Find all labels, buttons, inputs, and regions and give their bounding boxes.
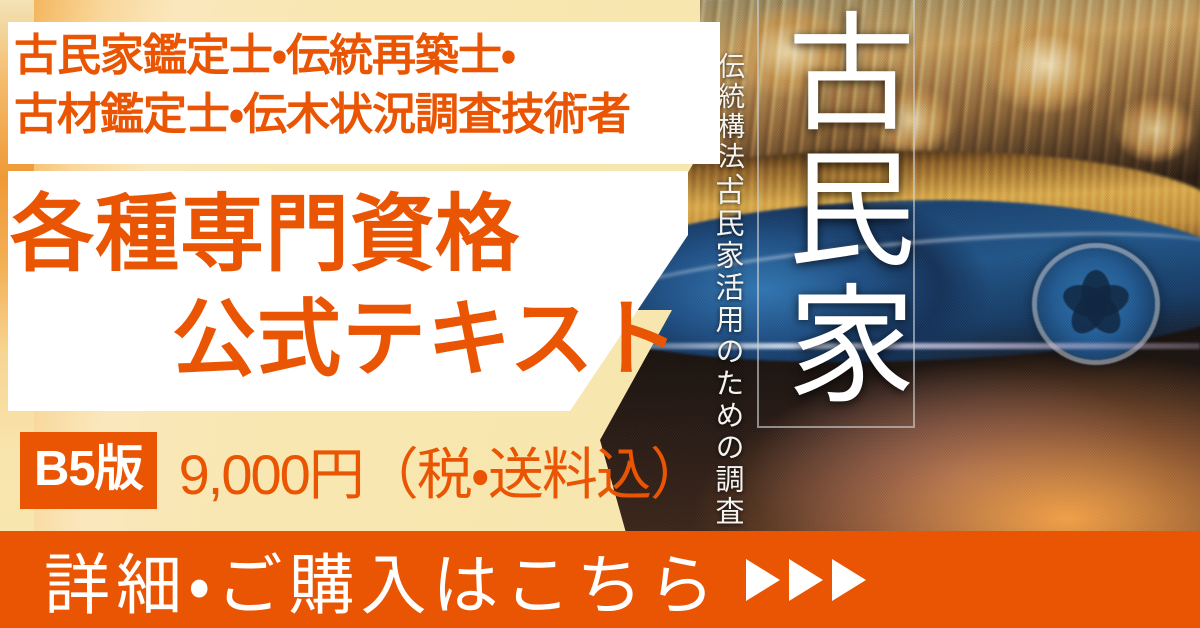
cover-subtitle-main: 古民家活用のための調査と再生の — [706, 176, 748, 548]
cta-arrows — [746, 559, 866, 601]
price-amount: 9,000円（税・送料込） — [179, 430, 704, 511]
headline-text: 各種専門資格 公式テキスト — [10, 182, 690, 392]
price-row: B5版 9,000円（税・送料込） — [20, 428, 704, 512]
cta-bar[interactable]: 詳細・ご購入はこちら — [0, 531, 1200, 628]
promo-banner: 古民家 伝統構法、 古民家活用のための調査と再生の 古民家鑑定士・伝統再築士・ … — [0, 0, 1200, 628]
cta-label: 詳細・ご購入はこちら — [44, 532, 720, 628]
chevron-right-icon-2 — [789, 559, 823, 601]
chevron-right-icon-1 — [746, 559, 780, 601]
certification-line-1: 古民家鑑定士・伝統再築士・ — [14, 27, 714, 86]
certifications-text: 古民家鑑定士・伝統再築士・ 古材鑑定士・伝木状況調査技術者 — [14, 27, 714, 145]
chevron-right-icon-3 — [832, 559, 866, 601]
headline-line-2: 公式テキスト — [10, 287, 690, 392]
certification-line-2: 古材鑑定士・伝木状況調査技術者 — [14, 86, 714, 145]
cover-title-text: 古民家 — [772, 6, 904, 426]
size-badge: B5版 — [20, 432, 157, 509]
headline-line-1: 各種専門資格 — [10, 187, 520, 281]
